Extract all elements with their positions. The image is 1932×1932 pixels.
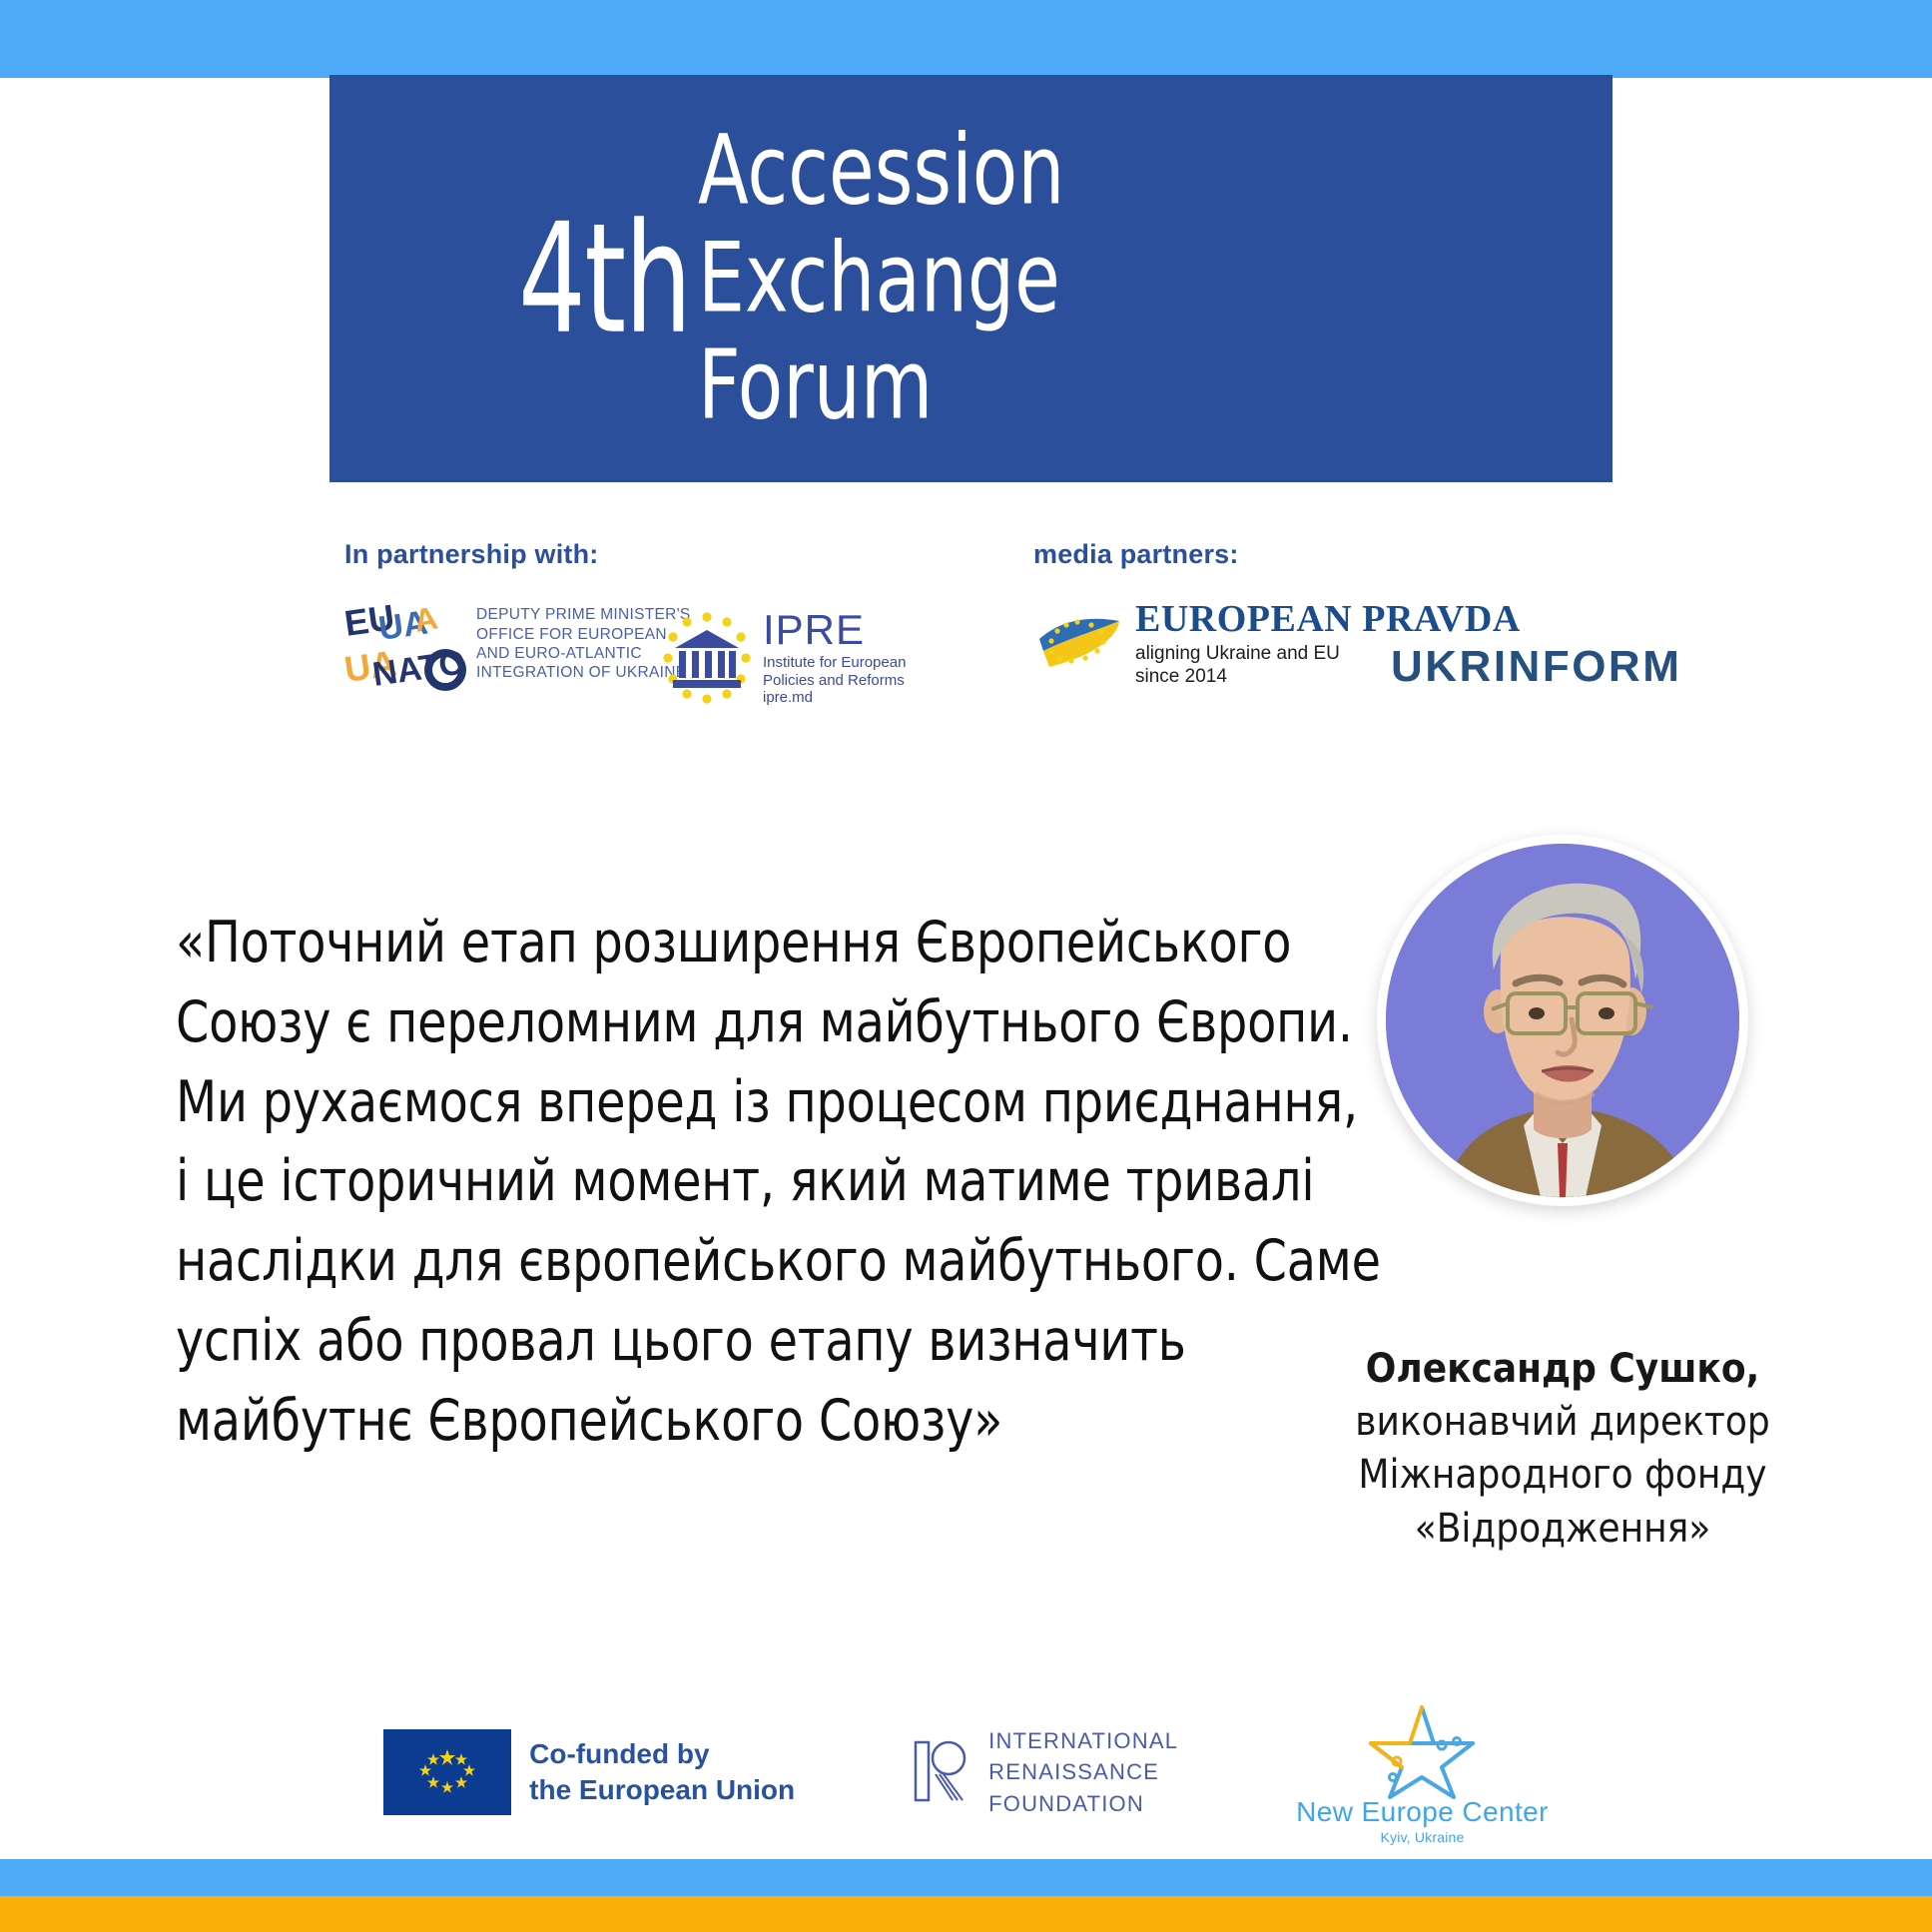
- ipre-name: IPRE: [763, 609, 906, 651]
- quote-line-3: Ми рухаємося вперед із процесом приєднан…: [176, 1063, 1216, 1143]
- funder-logos: Co-funded by the European Union INTERNAT…: [0, 1697, 1932, 1847]
- ipre-sub-line-3: ipre.md: [763, 689, 906, 707]
- partnership-label: In partnership with:: [344, 539, 691, 570]
- ipre-sub-line-2: Policies and Reforms: [763, 672, 906, 690]
- eu-cofunded-line-1: Co-funded by: [529, 1736, 795, 1772]
- ukrinform-logo-block: UKRINFORM: [1391, 645, 1681, 689]
- portrait-photo: [1386, 844, 1739, 1197]
- ipre-temple-icon: [659, 610, 755, 706]
- nec-name: New Europe Center: [1296, 1797, 1549, 1828]
- banner-title-line-2: Exchange: [698, 225, 1064, 332]
- irf-line-2: RENAISSANCE: [988, 1756, 1178, 1787]
- european-pravda-name: EUROPEAN PRAVDA: [1135, 600, 1521, 638]
- banner-title-line-1: Accession: [698, 118, 1064, 226]
- new-europe-center-logo: New Europe Center Kyiv, Ukraine: [1296, 1699, 1549, 1846]
- eu-cofunded-text: Co-funded by the European Union: [529, 1736, 795, 1808]
- nec-star-icon: [1363, 1699, 1481, 1803]
- ipre-subtitle: Institute for European Policies and Refo…: [763, 654, 906, 707]
- eu-cofunded-line-2: the European Union: [529, 1772, 795, 1808]
- irf-line-3: FOUNDATION: [988, 1788, 1178, 1819]
- quote-line-6: успіх або провал цього етапу визначить: [176, 1302, 1216, 1382]
- irf-logo: INTERNATIONAL RENAISSANCE FOUNDATION: [913, 1725, 1178, 1819]
- eu-ua-nato-logo-icon: EU UA A UA NATO: [344, 596, 466, 692]
- banner-title-line-3: Forum: [698, 332, 1064, 440]
- quote-text: «Поточний етап розширення Європейського …: [176, 904, 1216, 1462]
- bottom-flag-stripe-blue: [0, 1859, 1932, 1896]
- quote-line-2: Союзу є переломним для майбутнього Європ…: [176, 983, 1216, 1063]
- partnership-block: In partnership with: EU UA A UA NATO DEP…: [344, 539, 691, 692]
- speaker-role-line-3: «Відродження»: [1298, 1503, 1827, 1556]
- quote-line-7: майбутнє Європейського Союзу»: [176, 1382, 1216, 1462]
- quote-line-4: і це історичний момент, який матиме трив…: [176, 1142, 1216, 1222]
- speaker-caption: Олександр Сушко, виконавчий директор Між…: [1298, 1343, 1827, 1556]
- eu-cofunded-logo: Co-funded by the European Union: [383, 1729, 795, 1815]
- ipre-logo-block: IPRE Institute for European Policies and…: [659, 583, 906, 707]
- ipre-sub-line-1: Institute for European: [763, 654, 906, 672]
- banner-title: Accession Exchange Forum: [698, 118, 1064, 440]
- eu-flag-icon: [383, 1729, 511, 1815]
- speaker-role-line-2: Міжнародного фонду: [1298, 1449, 1827, 1502]
- speaker-name: Олександр Сушко,: [1298, 1343, 1827, 1396]
- irf-line-1: INTERNATIONAL: [988, 1725, 1178, 1756]
- bottom-flag-stripe-yellow: [0, 1896, 1932, 1932]
- european-pravda-flag-icon: [1033, 605, 1125, 683]
- event-banner: 4th Accession Exchange Forum: [329, 75, 1612, 482]
- irf-text: INTERNATIONAL RENAISSANCE FOUNDATION: [988, 1725, 1178, 1819]
- media-partners-label: media partners:: [1033, 539, 1521, 570]
- partners-section: In partnership with: EU UA A UA NATO DEP…: [0, 539, 1932, 759]
- speaker-role-line-1: виконавчий директор: [1298, 1396, 1827, 1449]
- quote-line-1: «Поточний етап розширення Європейського: [176, 904, 1216, 983]
- svg-text:A: A: [411, 599, 440, 638]
- banner-ordinal: 4th: [518, 204, 691, 355]
- ukrinform-name: UKRINFORM: [1391, 645, 1681, 689]
- speaker-portrait: [1377, 835, 1748, 1206]
- top-flag-stripe: [0, 0, 1932, 78]
- nec-location: Kyiv, Ukraine: [1296, 1829, 1549, 1845]
- quote-line-5: наслідки для європейського майбутнього. …: [176, 1222, 1216, 1302]
- irf-mark-icon: [913, 1736, 972, 1808]
